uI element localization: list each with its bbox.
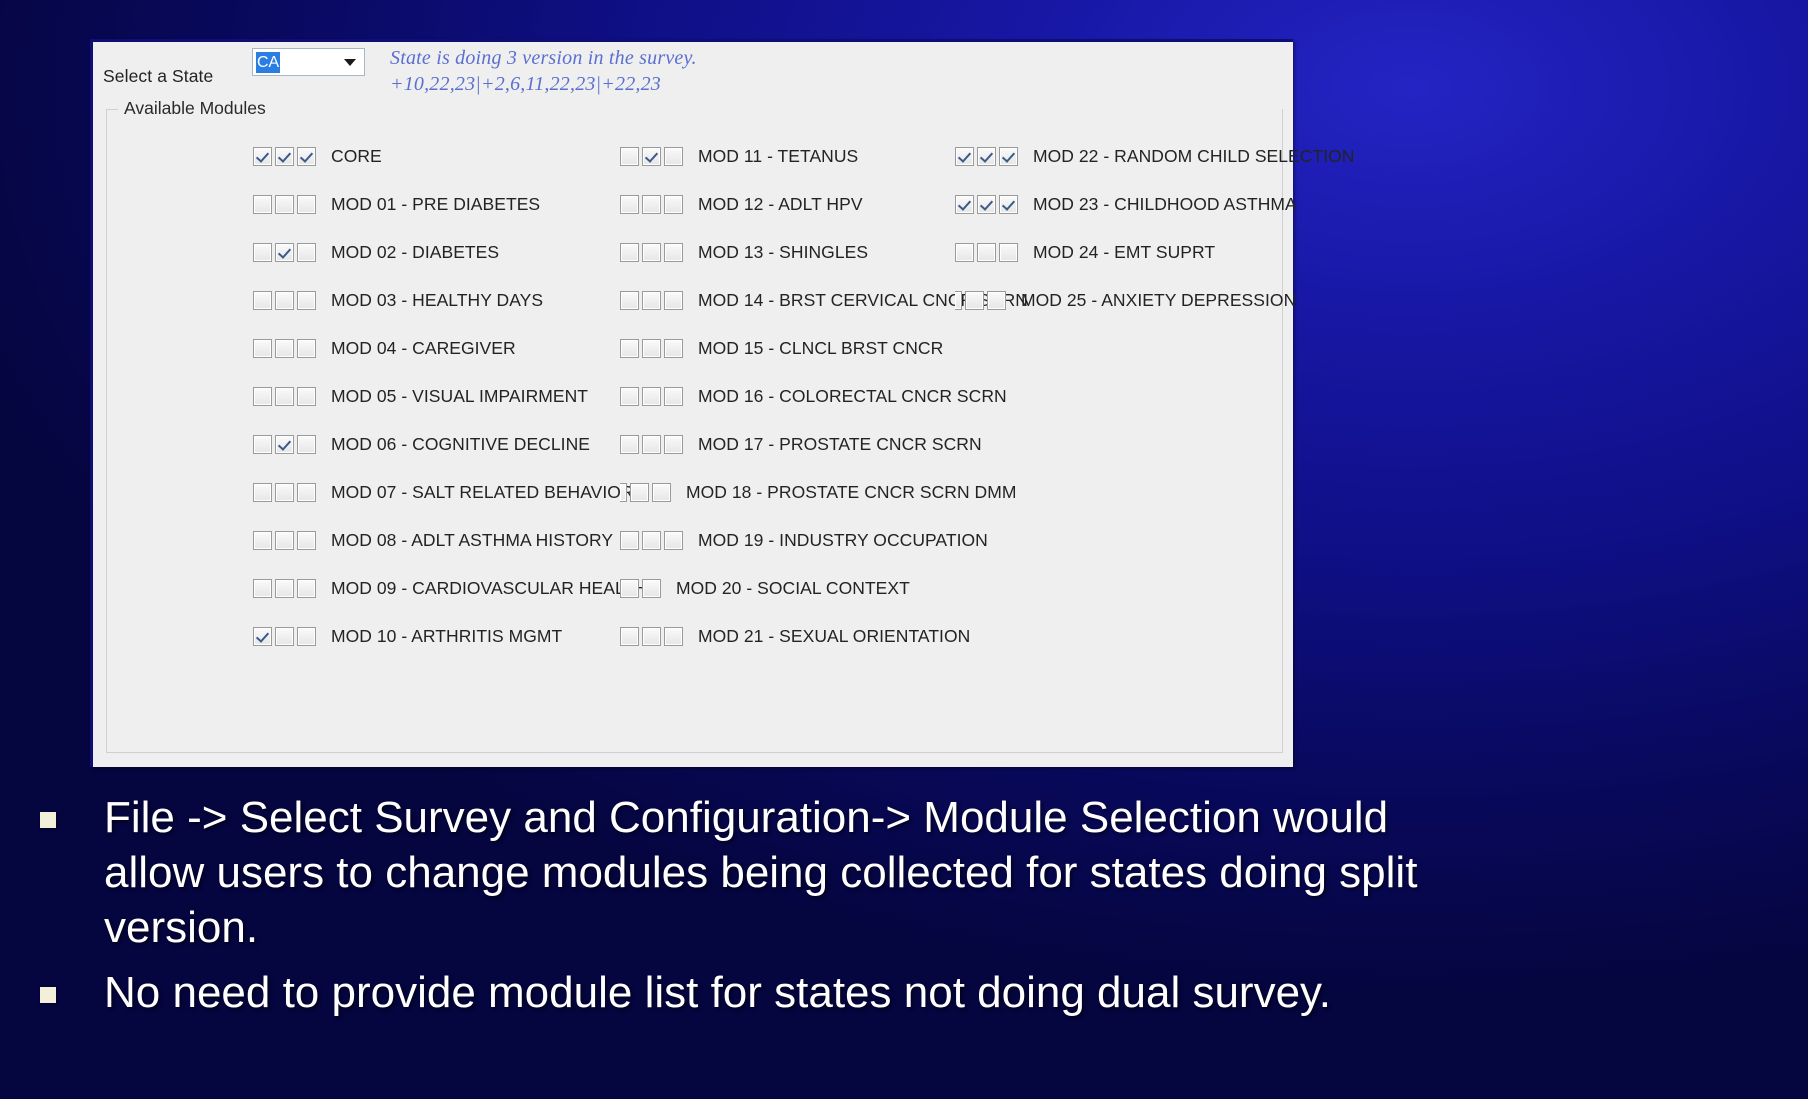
module-checkbox-3[interactable]	[297, 531, 316, 550]
module-selection-dialog: Select a State CA State is doing 3 versi…	[90, 39, 1293, 767]
module-row: CORE	[253, 145, 382, 167]
module-checkbox-3[interactable]	[664, 531, 683, 550]
module-checkbox-2[interactable]	[275, 195, 294, 214]
module-checkbox-2[interactable]	[275, 243, 294, 262]
module-row: MOD 01 - PRE DIABETES	[253, 193, 540, 215]
module-row: MOD 05 - VISUAL IMPAIRMENT	[253, 385, 588, 407]
module-row: MOD 03 - HEALTHY DAYS	[253, 289, 543, 311]
slide-canvas: Select a State CA State is doing 3 versi…	[0, 0, 1808, 1099]
module-checkbox-3[interactable]	[999, 195, 1018, 214]
module-label: MOD 24 - EMT SUPRT	[1033, 242, 1215, 263]
module-checkbox-2[interactable]	[275, 627, 294, 646]
module-checkbox-1[interactable]	[620, 339, 639, 358]
module-row: MOD 22 - RANDOM CHILD SELECTION	[955, 145, 1354, 167]
module-checkbox-1[interactable]	[620, 243, 639, 262]
module-row: MOD 15 - CLNCL BRST CNCR	[620, 337, 943, 359]
module-label: MOD 06 - COGNITIVE DECLINE	[331, 434, 590, 455]
module-checkbox-1[interactable]	[620, 291, 639, 310]
module-row: MOD 19 - INDUSTRY OCCUPATION	[620, 529, 988, 551]
module-label: MOD 16 - COLORECTAL CNCR SCRN	[698, 386, 1007, 407]
module-row: MOD 12 - ADLT HPV	[620, 193, 863, 215]
module-checkbox-2[interactable]	[642, 291, 661, 310]
module-checkbox-3[interactable]	[664, 147, 683, 166]
module-label: MOD 20 - SOCIAL CONTEXT	[676, 578, 910, 599]
module-checkbox-3[interactable]	[642, 579, 661, 598]
module-row: MOD 18 - PROSTATE CNCR SCRN DMM	[620, 481, 1017, 503]
module-checkbox-2[interactable]	[642, 147, 661, 166]
module-checkbox-2[interactable]	[977, 147, 996, 166]
module-checkbox-1[interactable]	[253, 627, 272, 646]
module-checkbox-2[interactable]	[275, 435, 294, 454]
module-checkbox-1[interactable]	[620, 483, 627, 502]
module-label: MOD 18 - PROSTATE CNCR SCRN DMM	[686, 482, 1017, 503]
module-checkbox-2[interactable]	[275, 579, 294, 598]
bullet-text: No need to provide module list for state…	[104, 965, 1331, 1020]
chevron-down-icon[interactable]	[344, 59, 356, 66]
available-modules-title: Available Modules	[118, 98, 272, 119]
bullet-text: File -> Select Survey and Configuration-…	[104, 790, 1424, 955]
bullet-square-icon	[40, 812, 56, 828]
module-checkbox-1[interactable]	[253, 147, 272, 166]
bullet-item: No need to provide module list for state…	[40, 965, 1770, 1020]
module-label: MOD 25 - ANXIETY DEPRESSION	[1021, 290, 1296, 311]
available-modules-groupbox: Available Modules COREMOD 01 - PRE DIABE…	[106, 109, 1283, 753]
module-row: MOD 24 - EMT SUPRT	[955, 241, 1215, 263]
module-row: MOD 10 - ARTHRITIS MGMT	[253, 625, 562, 647]
module-checkbox-3[interactable]	[297, 627, 316, 646]
module-checkbox-2[interactable]	[642, 531, 661, 550]
module-checkbox-3[interactable]	[987, 291, 1006, 310]
module-checkbox-2[interactable]	[965, 291, 984, 310]
module-checkbox-3[interactable]	[664, 195, 683, 214]
module-checkbox-3[interactable]	[297, 243, 316, 262]
module-checkbox-2[interactable]	[642, 627, 661, 646]
module-checkbox-3[interactable]	[297, 339, 316, 358]
module-label: MOD 15 - CLNCL BRST CNCR	[698, 338, 943, 359]
module-row: MOD 08 - ADLT ASTHMA HISTORY	[253, 529, 613, 551]
module-checkbox-2[interactable]	[275, 387, 294, 406]
module-row: MOD 06 - COGNITIVE DECLINE	[253, 433, 590, 455]
module-checkbox-3[interactable]	[664, 387, 683, 406]
module-label: MOD 05 - VISUAL IMPAIRMENT	[331, 386, 588, 407]
module-checkbox-2[interactable]	[275, 531, 294, 550]
module-checkbox-3[interactable]	[297, 291, 316, 310]
module-checkbox-1[interactable]	[620, 195, 639, 214]
module-label: MOD 23 - CHILDHOOD ASTHMA	[1033, 194, 1297, 215]
module-checkbox-3[interactable]	[652, 483, 671, 502]
module-checkbox-3[interactable]	[664, 243, 683, 262]
module-checkbox-1[interactable]	[253, 531, 272, 550]
module-checkbox-2[interactable]	[642, 339, 661, 358]
module-checkbox-3[interactable]	[999, 147, 1018, 166]
module-label: MOD 13 - SHINGLES	[698, 242, 868, 263]
module-checkbox-3[interactable]	[297, 195, 316, 214]
module-checkbox-2[interactable]	[642, 243, 661, 262]
module-row: MOD 07 - SALT RELATED BEHAVIOR	[253, 481, 634, 503]
module-checkbox-2[interactable]	[630, 483, 649, 502]
module-row: MOD 20 - SOCIAL CONTEXT	[620, 577, 910, 599]
module-checkbox-2[interactable]	[275, 483, 294, 502]
module-checkbox-3[interactable]	[297, 579, 316, 598]
module-checkbox-2[interactable]	[275, 339, 294, 358]
module-checkbox-2[interactable]	[642, 435, 661, 454]
module-label: MOD 22 - RANDOM CHILD SELECTION	[1033, 146, 1354, 167]
module-label: MOD 10 - ARTHRITIS MGMT	[331, 626, 562, 647]
module-checkbox-1[interactable]	[253, 579, 272, 598]
module-checkbox-3[interactable]	[664, 291, 683, 310]
module-label: MOD 17 - PROSTATE CNCR SCRN	[698, 434, 982, 455]
module-checkbox-1[interactable]	[620, 387, 639, 406]
module-checkbox-1[interactable]	[253, 387, 272, 406]
module-label: MOD 19 - INDUSTRY OCCUPATION	[698, 530, 988, 551]
split-version-note: State is doing 3 version in the survey. …	[390, 45, 697, 97]
module-label: MOD 03 - HEALTHY DAYS	[331, 290, 543, 311]
state-dropdown[interactable]: CA	[252, 48, 365, 76]
module-checkbox-2[interactable]	[977, 243, 996, 262]
module-label: MOD 12 - ADLT HPV	[698, 194, 863, 215]
module-checkbox-3[interactable]	[664, 627, 683, 646]
module-checkbox-1[interactable]	[253, 483, 272, 502]
module-checkbox-3[interactable]	[297, 147, 316, 166]
module-checkbox-3[interactable]	[664, 339, 683, 358]
module-checkbox-1[interactable]	[253, 339, 272, 358]
module-row: MOD 25 - ANXIETY DEPRESSION	[955, 289, 1296, 311]
module-checkbox-1[interactable]	[253, 195, 272, 214]
module-checkbox-1[interactable]	[620, 627, 639, 646]
module-row: MOD 21 - SEXUAL ORIENTATION	[620, 625, 970, 647]
state-selection-row: Select a State CA State is doing 3 versi…	[93, 42, 1293, 104]
module-checkbox-1[interactable]	[955, 243, 974, 262]
module-checkbox-3[interactable]	[664, 435, 683, 454]
module-row: MOD 11 - TETANUS	[620, 145, 858, 167]
bullet-square-icon	[40, 987, 56, 1003]
module-row: MOD 02 - DIABETES	[253, 241, 499, 263]
state-dropdown-value: CA	[256, 52, 280, 73]
module-row: MOD 04 - CAREGIVER	[253, 337, 516, 359]
module-label: MOD 07 - SALT RELATED BEHAVIOR	[331, 482, 634, 503]
module-checkbox-2[interactable]	[642, 387, 661, 406]
module-checkbox-1[interactable]	[253, 291, 272, 310]
module-row: MOD 16 - COLORECTAL CNCR SCRN	[620, 385, 1007, 407]
module-label: MOD 08 - ADLT ASTHMA HISTORY	[331, 530, 613, 551]
module-row: MOD 23 - CHILDHOOD ASTHMA	[955, 193, 1297, 215]
groupbox-border-left	[107, 109, 118, 110]
module-row: MOD 17 - PROSTATE CNCR SCRN	[620, 433, 982, 455]
select-a-state-label: Select a State	[103, 66, 213, 87]
module-label: MOD 21 - SEXUAL ORIENTATION	[698, 626, 970, 647]
module-label: MOD 09 - CARDIOVASCULAR HEALTH	[331, 578, 647, 599]
module-checkbox-2[interactable]	[620, 579, 639, 598]
module-checkbox-1[interactable]	[620, 435, 639, 454]
module-label: CORE	[331, 146, 382, 167]
module-checkbox-1[interactable]	[955, 147, 974, 166]
module-checkbox-2[interactable]	[642, 195, 661, 214]
module-label: MOD 01 - PRE DIABETES	[331, 194, 540, 215]
module-checkbox-3[interactable]	[999, 243, 1018, 262]
module-checkbox-2[interactable]	[977, 195, 996, 214]
module-checkbox-1[interactable]	[253, 243, 272, 262]
module-checkbox-1[interactable]	[620, 147, 639, 166]
module-label: MOD 11 - TETANUS	[698, 146, 858, 167]
module-label: MOD 04 - CAREGIVER	[331, 338, 516, 359]
module-checkbox-2[interactable]	[275, 291, 294, 310]
module-checkbox-3[interactable]	[297, 387, 316, 406]
module-checkbox-1[interactable]	[620, 531, 639, 550]
module-checkbox-1[interactable]	[955, 195, 974, 214]
module-row: MOD 09 - CARDIOVASCULAR HEALTH	[253, 577, 647, 599]
module-row: MOD 13 - SHINGLES	[620, 241, 868, 263]
module-checkbox-2[interactable]	[275, 147, 294, 166]
module-checkbox-3[interactable]	[297, 435, 316, 454]
module-checkbox-3[interactable]	[297, 483, 316, 502]
module-checkbox-1[interactable]	[955, 291, 962, 310]
bullet-item: File -> Select Survey and Configuration-…	[40, 790, 1770, 955]
bullet-list: File -> Select Survey and Configuration-…	[40, 790, 1770, 1030]
module-label: MOD 02 - DIABETES	[331, 242, 499, 263]
module-checkbox-1[interactable]	[253, 435, 272, 454]
